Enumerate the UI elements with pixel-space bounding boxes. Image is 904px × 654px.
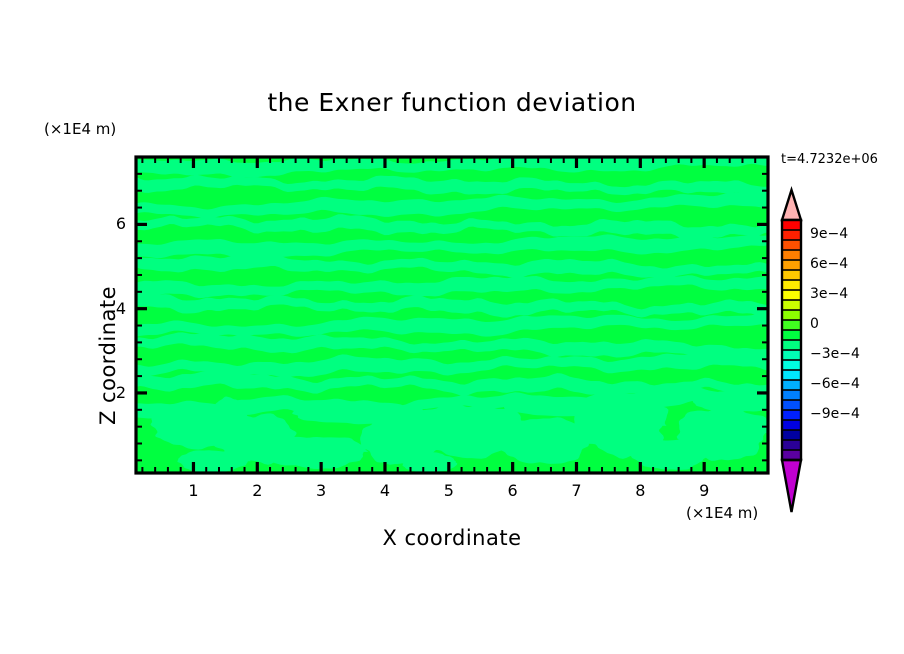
colorbar-tick-label: 9e−4 — [810, 226, 848, 242]
x-tick-label: 8 — [620, 481, 660, 500]
x-tick-label: 6 — [493, 481, 533, 500]
colorbar-tick-label: −3e−4 — [810, 346, 860, 362]
timestamp-annotation: t=4.7232e+06 — [781, 152, 878, 167]
x-axis-title: X coordinate — [0, 526, 904, 550]
colorbar-tick-label: −6e−4 — [810, 376, 860, 392]
x-axis-unit-label: (×1E4 m) — [686, 504, 758, 522]
contour-plot — [130, 150, 774, 480]
colorbar — [772, 186, 812, 516]
y-axis-title: Z coordinate — [96, 286, 120, 425]
y-axis-unit-label: (×1E4 m) — [44, 120, 116, 138]
colorbar-tick-label: 0 — [810, 316, 819, 332]
colorbar-tick-label: 3e−4 — [810, 286, 848, 302]
colorbar-tick-label: −9e−4 — [810, 406, 860, 422]
x-tick-label: 3 — [301, 481, 341, 500]
x-tick-label: 2 — [237, 481, 277, 500]
grads-plot-window: the Exner function deviation (×1E4 m) t=… — [0, 0, 904, 654]
page-title: the Exner function deviation — [0, 88, 904, 117]
x-tick-label: 4 — [365, 481, 405, 500]
y-tick-label: 6 — [90, 214, 126, 233]
x-tick-label: 1 — [173, 481, 213, 500]
x-tick-label: 7 — [556, 481, 596, 500]
colorbar-tick-label: 6e−4 — [810, 256, 848, 272]
x-tick-label: 5 — [429, 481, 469, 500]
x-tick-label: 9 — [684, 481, 724, 500]
